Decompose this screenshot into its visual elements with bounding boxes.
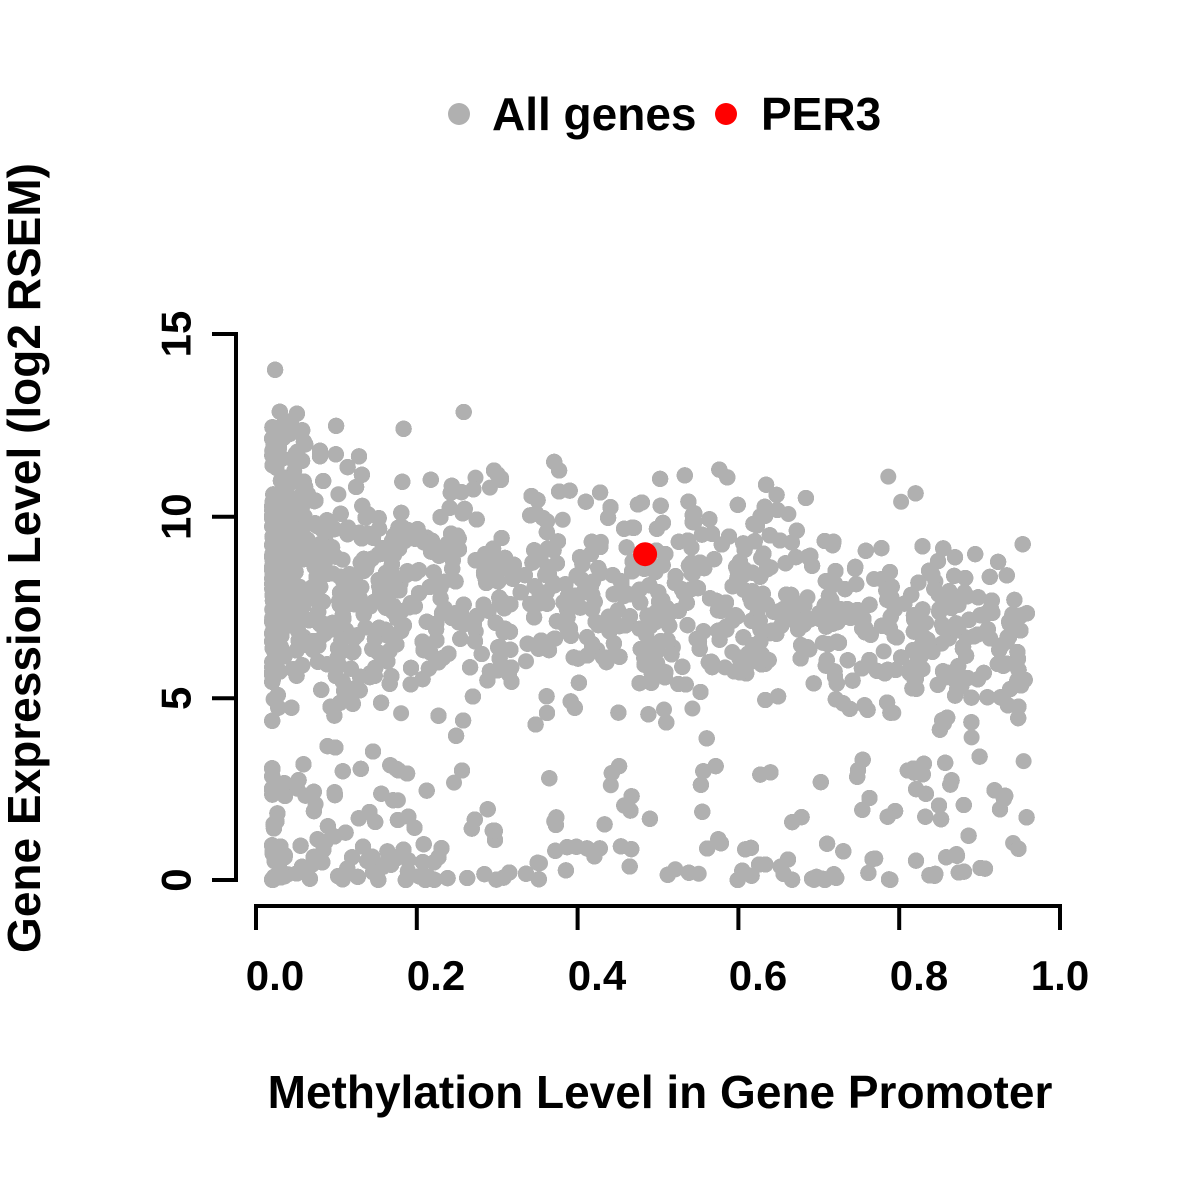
x-tick-label-0.2: 0.2 (407, 952, 465, 999)
plot-canvas: 0 5 10 15 0.0 0.2 0.4 0.6 0.8 1.0 Methyl… (0, 0, 1200, 1200)
y-tick-label-10: 10 (153, 493, 200, 540)
y-axis-title: Gene Expression Level (log2 RSEM) (0, 163, 50, 953)
per3-highlight-point[interactable] (633, 542, 657, 566)
y-tick-label-5: 5 (153, 687, 200, 710)
legend-label-per3: PER3 (761, 88, 881, 140)
x-tick-label-0.4: 0.4 (568, 952, 627, 999)
x-tick-label-0.0: 0.0 (246, 952, 304, 999)
legend-label-all-genes: All genes (492, 88, 697, 140)
per3-data-point[interactable] (633, 542, 657, 566)
y-tick-label-15: 15 (153, 311, 200, 358)
x-tick-label-0.6: 0.6 (729, 952, 787, 999)
x-axis-title: Methylation Level in Gene Promoter (268, 1066, 1053, 1118)
chart-legend: All genes PER3 (448, 88, 881, 140)
x-tick-label-0.8: 0.8 (890, 952, 948, 999)
scatter-plot-figure: 0 5 10 15 0.0 0.2 0.4 0.6 0.8 1.0 Methyl… (0, 0, 1200, 1200)
legend-marker-per3 (715, 103, 737, 125)
y-tick-label-0: 0 (153, 868, 200, 891)
legend-marker-all-genes (448, 103, 470, 125)
x-tick-label-1.0: 1.0 (1031, 952, 1089, 999)
